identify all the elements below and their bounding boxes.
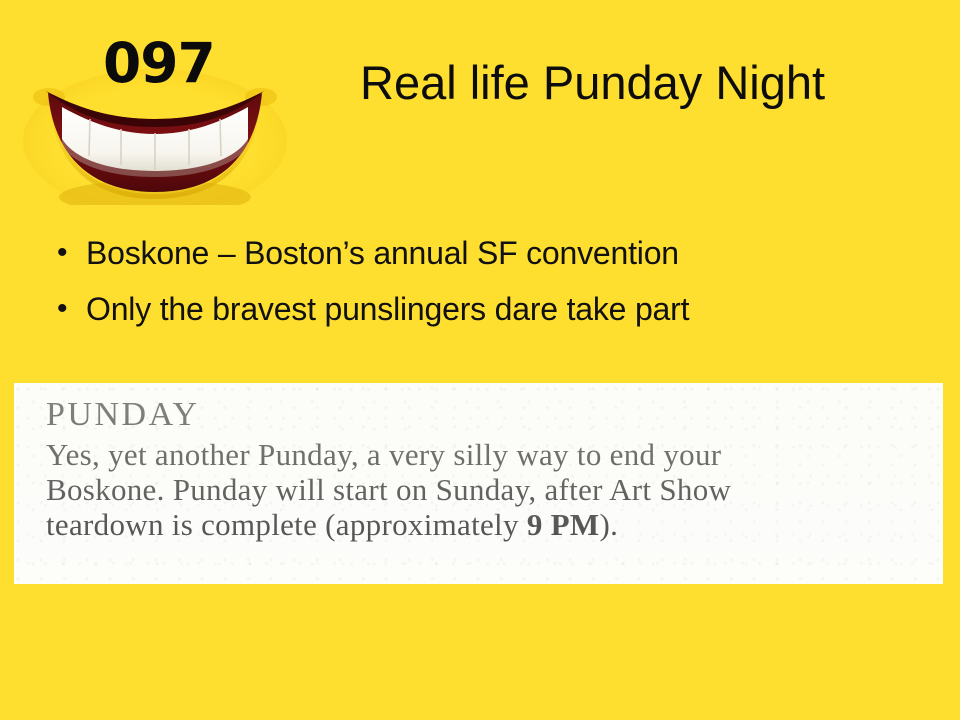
clipping-line-tail: ).: [599, 507, 618, 542]
scanned-clipping-image: PUNDAY Yes, yet another Punday, a very s…: [14, 383, 943, 584]
clipping-line-emphasis: 9 PM: [527, 507, 600, 542]
clipping-heading: PUNDAY: [46, 395, 933, 435]
clipping-line: Boskone. Punday will start on Sunday, af…: [46, 472, 933, 507]
list-item: • Boskone – Boston’s annual SF conventio…: [52, 232, 922, 274]
bullet-list: • Boskone – Boston’s annual SF conventio…: [52, 232, 922, 344]
clipping-line-text: Yes, yet another Punday, a very silly wa…: [46, 437, 721, 472]
clipping-line: Yes, yet another Punday, a very silly wa…: [46, 437, 933, 472]
slide-canvas: 097 Real life Punday Night • Boskone – B…: [0, 0, 960, 720]
clipping-content: PUNDAY Yes, yet another Punday, a very s…: [46, 395, 933, 542]
clipping-line-text: teardown is complete (approximately: [46, 507, 527, 542]
bullet-point-icon: •: [52, 232, 86, 274]
slide-number: 097: [103, 36, 215, 91]
bullet-point-icon: •: [52, 288, 86, 330]
list-item-label: Only the bravest punslingers dare take p…: [86, 288, 689, 330]
list-item: • Only the bravest punslingers dare take…: [52, 288, 922, 330]
list-item-label: Boskone – Boston’s annual SF convention: [86, 232, 679, 274]
page-title: Real life Punday Night: [360, 56, 825, 110]
clipping-line: teardown is complete (approximately 9 PM…: [46, 507, 933, 542]
clipping-line-text: Boskone. Punday will start on Sunday, af…: [46, 472, 731, 507]
